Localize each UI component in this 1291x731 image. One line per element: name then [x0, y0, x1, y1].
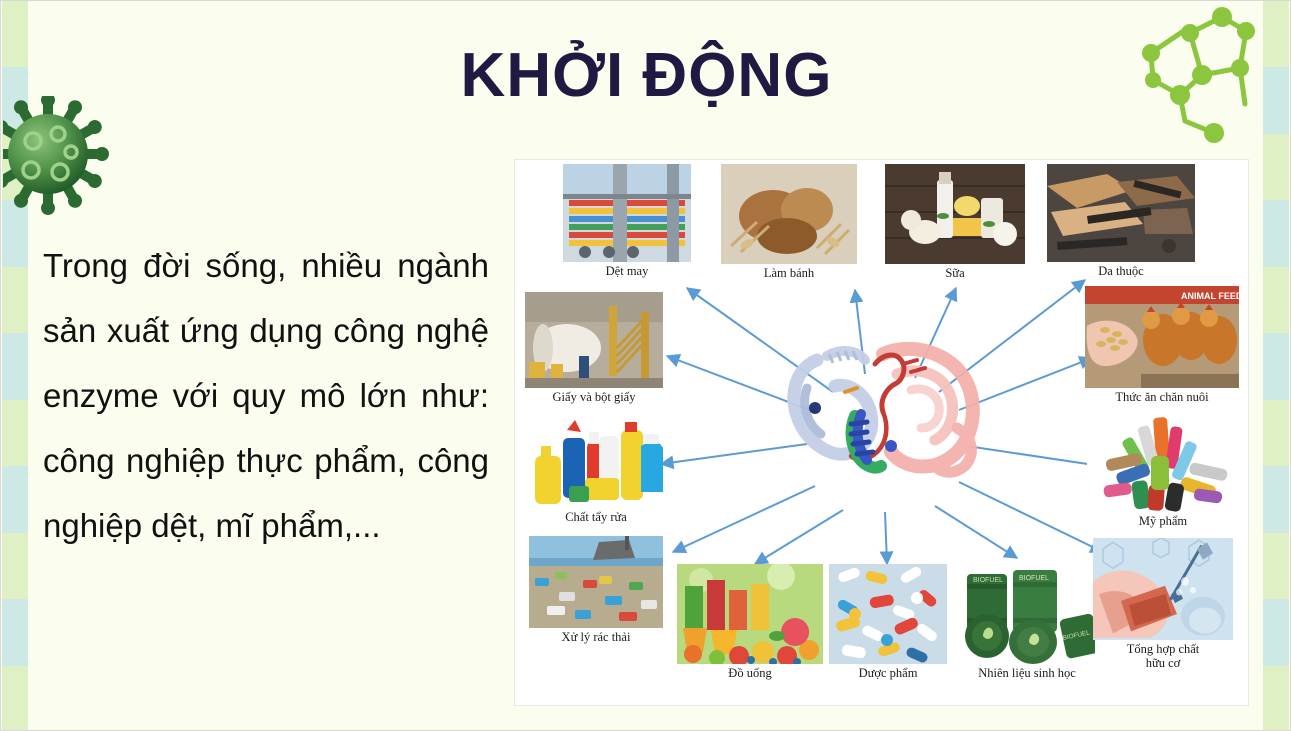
caption-sua: Sữa	[885, 266, 1025, 280]
svg-text:ANIMAL FEED MARKET: ANIMAL FEED MARKET	[1181, 291, 1239, 301]
virus-particle-icon	[3, 96, 111, 216]
thumbnail-det-may	[563, 164, 691, 262]
thumbnail-lam-banh	[721, 164, 857, 264]
node-xu-ly-rac-thai: Xử lý rác thải	[529, 536, 663, 650]
thumbnail-thuc-an-chan-nuoi: ANIMAL FEED MARKET	[1085, 286, 1239, 388]
caption-duoc-pham: Dược phẩm	[829, 666, 947, 680]
thumbnail-chat-tay-rua	[529, 416, 663, 508]
node-da-thuoc: Da thuộc	[1047, 164, 1195, 284]
thumbnail-tong-hop-chat-huu-co	[1093, 538, 1233, 640]
thumbnail-sua	[885, 164, 1025, 264]
body-paragraph: Trong đời sống, nhiều ngành sản xuất ứng…	[43, 233, 489, 558]
thumbnail-nhien-lieu-sinh-hoc: BIOFUEL BIOFUEL BIOFUEL	[959, 564, 1095, 664]
enzyme-protein-structure	[771, 330, 1003, 506]
caption-chat-tay-rua: Chất tẩy rửa	[529, 510, 663, 524]
caption-xu-ly-rac-thai: Xử lý rác thải	[529, 630, 663, 644]
caption-my-pham: Mỹ phẩm	[1087, 514, 1239, 528]
slide-canvas: KHỞI ĐỘNG Trong đời sống, nhiều ngành sả…	[0, 0, 1291, 731]
caption-thuc-an-chan-nuoi: Thức ăn chăn nuôi	[1085, 390, 1239, 404]
node-tong-hop-chat-huu-co: Tổng hợp chất hữu cơ	[1093, 538, 1233, 674]
caption-giay-bot-giay: Giấy và bột giấy	[525, 390, 663, 404]
thumbnail-xu-ly-rac-thai	[529, 536, 663, 628]
caption-do-uong: Đồ uống	[677, 666, 823, 680]
svg-text:BIOFUEL: BIOFUEL	[973, 577, 1003, 584]
node-nhien-lieu-sinh-hoc: BIOFUEL BIOFUEL BIOFUEL	[959, 564, 1095, 686]
page-title: KHỞI ĐỘNG	[1, 43, 1291, 108]
node-det-may: Dệt may	[563, 164, 691, 284]
node-giay-bot-giay: Giấy và bột giấy	[525, 292, 663, 410]
node-my-pham: Mỹ phẩm	[1087, 416, 1239, 534]
caption-da-thuoc: Da thuộc	[1047, 264, 1195, 278]
node-sua: Sữa	[885, 164, 1025, 286]
thumbnail-do-uong	[677, 564, 823, 664]
node-thuc-an-chan-nuoi: ANIMAL FEED MARKET	[1085, 286, 1239, 410]
thumbnail-my-pham	[1087, 416, 1239, 512]
caption-tong-hop-chat-huu-co: Tổng hợp chất hữu cơ	[1093, 642, 1233, 670]
svg-text:BIOFUEL: BIOFUEL	[1019, 575, 1049, 582]
thumbnail-duoc-pham	[829, 564, 947, 664]
caption-det-may: Dệt may	[563, 264, 691, 278]
node-lam-banh: Làm bánh	[721, 164, 857, 286]
node-duoc-pham: Dược phẩm	[829, 564, 947, 686]
thumbnail-giay-bot-giay	[525, 292, 663, 388]
caption-lam-banh: Làm bánh	[721, 266, 857, 280]
node-chat-tay-rua: Chất tẩy rửa	[529, 416, 663, 530]
node-do-uong: Đồ uống	[677, 564, 823, 686]
caption-nhien-lieu-sinh-hoc: Nhiên liệu sinh học	[959, 666, 1095, 680]
thumbnail-da-thuoc	[1047, 164, 1195, 262]
enzyme-applications-diagram: Dệt may Làm bánh	[514, 159, 1249, 706]
